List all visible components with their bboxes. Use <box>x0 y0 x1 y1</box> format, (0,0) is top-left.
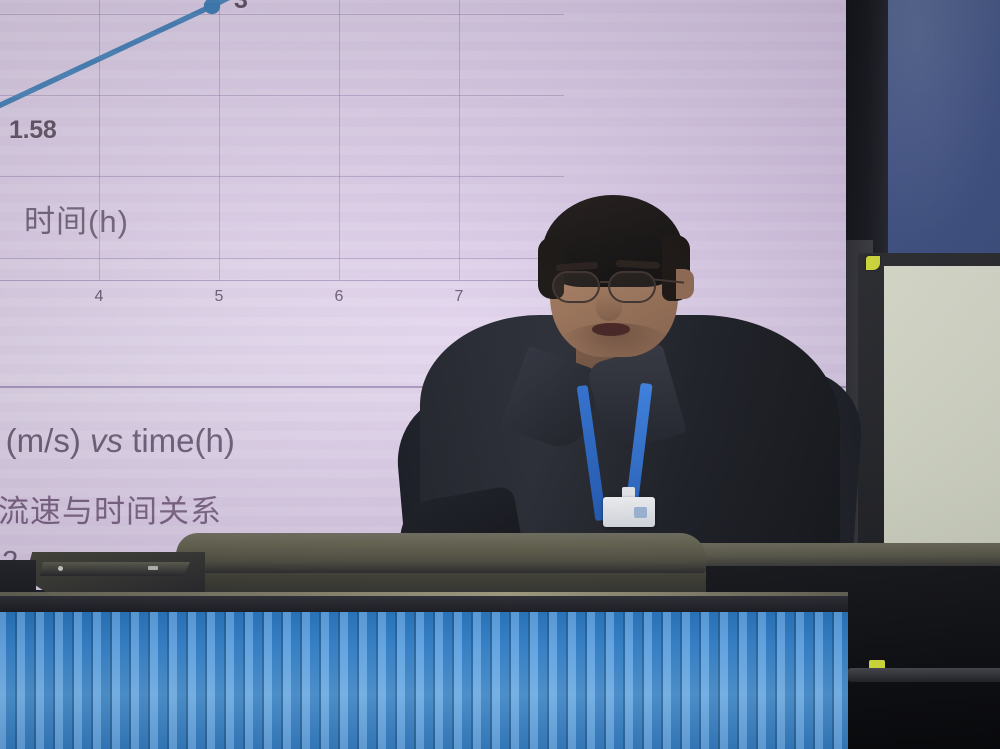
stage-skirt-blue-pleated <box>0 612 848 749</box>
slide-caption-english: v (m/s) vs time(h) <box>0 422 235 460</box>
caption-suffix: time(h) <box>123 422 235 459</box>
glasses-temple <box>654 278 684 283</box>
wall-acoustic-panel-blue <box>884 0 1000 266</box>
glasses-lens-left <box>552 271 600 303</box>
x-tick-label-6: 6 <box>335 288 344 306</box>
slide-caption-chinese: 动流速与时间关系 <box>0 486 222 531</box>
x-tick-label-4: 4 <box>95 288 104 306</box>
presentation-photo-scene: 3 1.58 4 5 6 7 时间(h) v (m/s) vs time(h) … <box>0 0 1000 749</box>
presenter-mouth <box>592 323 630 336</box>
glasses-icon <box>550 271 680 303</box>
caption-italic-vs: vs <box>90 422 123 459</box>
presenter <box>400 195 860 575</box>
badge-photo-area <box>634 507 647 518</box>
id-badge <box>603 497 655 527</box>
chart-point-label-1-58: 1.58 <box>9 116 56 145</box>
whiteboard-corner-clip-icon <box>866 256 880 270</box>
caption-prefix: v (m/s) <box>0 422 90 459</box>
podium-rail <box>846 668 1000 682</box>
glasses-lens-right <box>608 271 656 303</box>
chart-data-point-marker <box>204 0 220 14</box>
chart-point-label-3: 3 <box>234 0 248 15</box>
podium-wing-indicator <box>58 566 63 571</box>
x-tick-label-5: 5 <box>215 288 224 306</box>
podium-front-top-surface[interactable] <box>176 533 706 573</box>
glasses-bridge <box>600 281 610 283</box>
podium-wing-indicator-2 <box>148 566 158 570</box>
chart-x-axis-title: 时间(h) <box>24 196 129 241</box>
